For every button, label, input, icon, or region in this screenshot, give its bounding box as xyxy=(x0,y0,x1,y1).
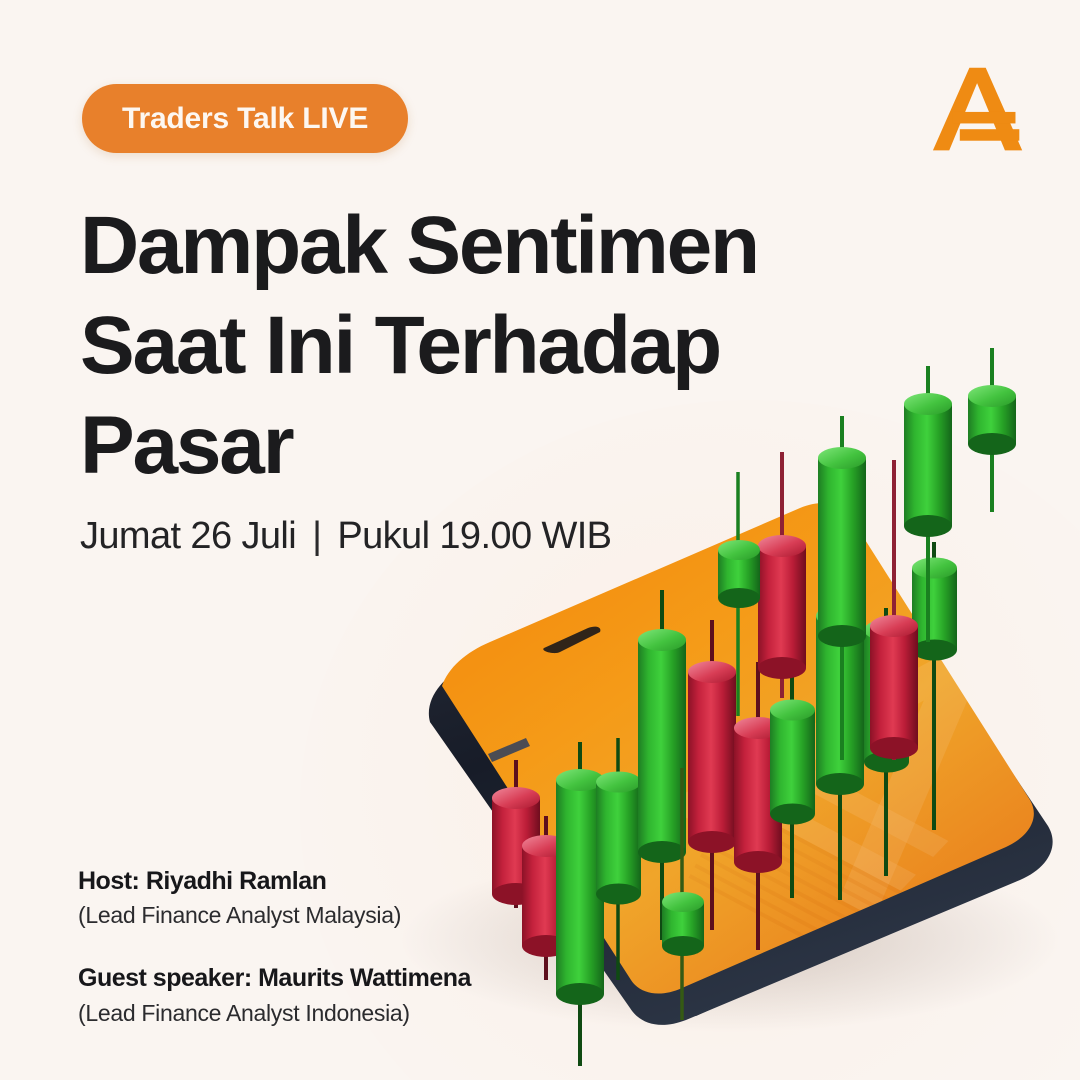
schedule-date: Jumat 26 Juli xyxy=(80,515,296,558)
headline-line-2: Saat Ini Terhadap xyxy=(80,296,800,396)
badge-label: Traders Talk LIVE xyxy=(122,102,368,136)
letter-a-logo-icon xyxy=(930,62,1028,158)
headline-line-3: Pasar xyxy=(80,396,800,496)
page-title: Dampak Sentimen Saat Ini Terhadap Pasar xyxy=(80,196,800,496)
schedule-time: Pukul 19.00 WIB xyxy=(337,515,611,558)
schedule-separator: | xyxy=(312,515,321,558)
poster-canvas: Traders Talk LIVE Dampak Sentimen Saat I… xyxy=(0,0,1080,1080)
credit-host: Host: Riyadhi Ramlan (Lead Finance Analy… xyxy=(78,866,548,931)
credit-host-role: (Lead Finance Analyst Malaysia) xyxy=(78,900,548,931)
schedule-line: Jumat 26 Juli | Pukul 19.00 WIB xyxy=(80,515,611,558)
headline-line-1: Dampak Sentimen xyxy=(80,196,800,296)
credit-host-name: Host: Riyadhi Ramlan xyxy=(78,866,548,897)
candle-18-up xyxy=(968,348,1016,512)
credits-list: Host: Riyadhi Ramlan (Lead Finance Analy… xyxy=(78,866,548,1029)
traders-talk-live-badge[interactable]: Traders Talk LIVE xyxy=(82,84,408,153)
credit-guest: Guest speaker: Maurits Wattimena (Lead F… xyxy=(78,963,548,1028)
credit-guest-name: Guest speaker: Maurits Wattimena xyxy=(78,963,548,994)
credit-guest-role: (Lead Finance Analyst Indonesia) xyxy=(78,998,548,1029)
